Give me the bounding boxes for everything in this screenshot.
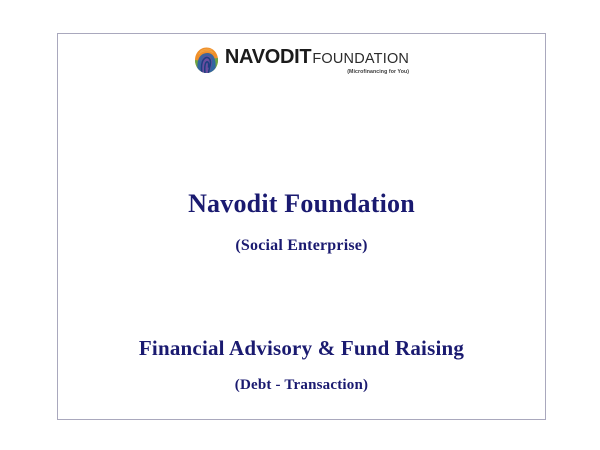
logo-text-column: NAVODIT FOUNDATION (Microfinancing for Y… <box>225 47 409 75</box>
navodit-fingerprint-logo-mark <box>194 47 219 74</box>
service-subtitle: (Debt - Transaction) <box>58 377 545 394</box>
logo-word-navodit: NAVODIT <box>225 47 311 67</box>
organization-subtitle: (Social Enterprise) <box>58 237 545 255</box>
logo-wordmark: NAVODIT FOUNDATION <box>225 47 409 67</box>
slide-frame: NAVODIT FOUNDATION (Microfinancing for Y… <box>57 33 546 420</box>
service-title: Financial Advisory & Fund Raising <box>58 336 545 361</box>
logo-lockup: NAVODIT FOUNDATION (Microfinancing for Y… <box>194 47 409 75</box>
logo-tagline: (Microfinancing for You) <box>347 70 409 75</box>
organization-title: Navodit Foundation <box>58 189 545 219</box>
logo-word-foundation: FOUNDATION <box>312 52 409 67</box>
logo-block: NAVODIT FOUNDATION (Microfinancing for Y… <box>58 47 545 75</box>
